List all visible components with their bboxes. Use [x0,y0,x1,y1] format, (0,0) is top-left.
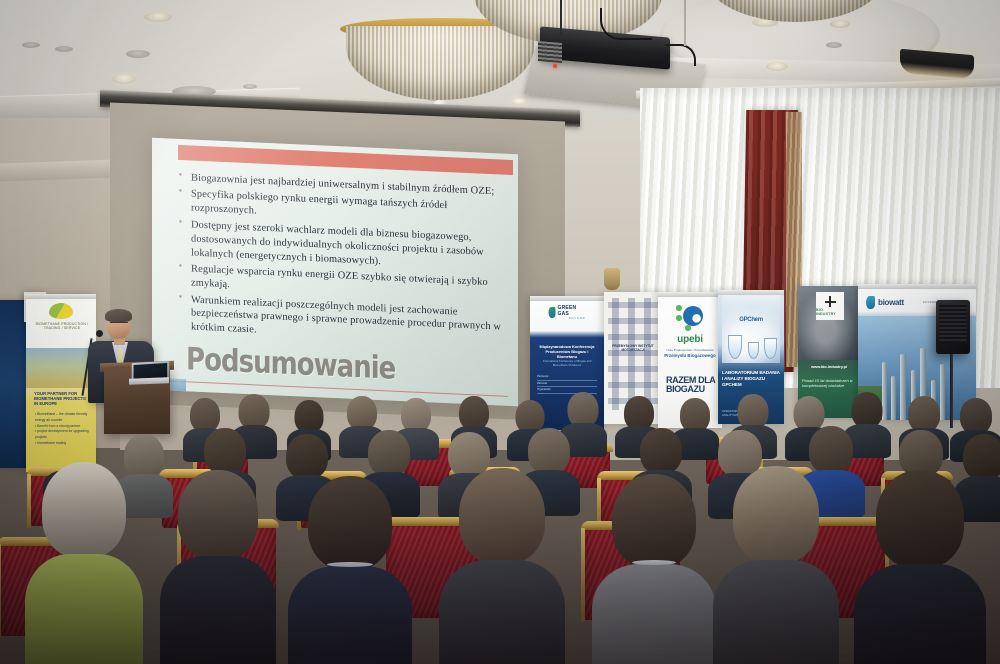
bio-industry-wordmark: BIO INDUSTRY [816,308,844,316]
gpchem-lab-photo: GPChem [722,295,780,363]
landwarme-subtitle: BIOMETHANE PRODUCTION / TRADING / SERVIC… [34,322,90,330]
laptop-screen [134,363,168,379]
conference-photo: Biogazownia jest najbardziej uniwersalny… [0,0,1000,664]
downlight-icon [144,12,172,22]
downlight-icon [22,42,40,48]
head [680,398,710,432]
upebi-subtitle-line2: Przemysłu Biogazowego [663,353,717,359]
banner-cap [530,296,604,301]
slide-bullet-list: Biogazownia jest najbardziej uniwersalny… [178,171,504,352]
head [178,470,258,560]
head [960,398,992,434]
projector-suspension-rod [684,0,686,46]
upebi-slogan: RAZEM DLA BIOGAZU [666,376,718,395]
head [733,466,819,564]
green-gas-wordmark: GREEN GAS [558,305,586,317]
banner-cap [658,292,722,297]
speaker-grille [939,303,967,343]
partner-row: Patronat [537,381,597,388]
head [308,476,392,570]
gpchem-headline: LABORATORIUM BADANIA I ANALIZY BIOGAZU G… [722,370,780,389]
downlight-icon [112,74,136,84]
upebi-dot [676,315,682,321]
head [190,398,220,432]
projector-vent [538,41,562,63]
head [42,462,126,558]
upebi-wordmark: upebi [658,334,722,345]
torso [288,566,412,664]
flask-icon [728,335,742,359]
downlight-icon [126,50,150,58]
head [612,474,696,568]
head [239,394,270,429]
projector-power-led-icon [553,64,557,68]
landwarme-logo-icon [49,303,73,319]
upebi-dot [676,305,682,311]
upebi-circle [683,306,703,326]
flame-icon [549,307,556,318]
head [368,430,410,476]
audience-member-front [36,462,132,664]
poster-logo-pattern [608,298,658,410]
green-gas-headline: Międzynarodowa Konferencja Producentów B… [537,344,597,359]
bio-industry-tagline: Ponad 10 lat doświadczeń w kompleksowej … [802,378,857,388]
torso [439,560,565,664]
torso [25,554,143,664]
bio-industry-url: www.bio-industry.pl [801,364,857,369]
presentation-slide: Biogazownia jest najbardziej uniwersalny… [152,138,518,407]
upebi-subtitle-line1: Unia Producentów i Pracodawców [667,348,714,352]
green-gas-logo: GREEN GAS POLAND [549,305,586,320]
partner-row: Partnerzy [537,374,597,381]
wall-sconce [604,268,620,290]
head [568,392,599,427]
green-gas-country: POLAND [558,317,586,320]
downlight-icon [826,42,842,48]
upebi-subtitle: Unia Producentów i Pracodawców Przemysłu… [663,348,717,360]
microphone-icon [96,330,103,337]
torso [713,560,839,664]
flask-icon [764,338,777,359]
audience-member-front [452,468,552,664]
biowatt-wordmark: biowatt [878,298,904,307]
audience-member-front [300,476,400,664]
audience-member-front [604,474,704,664]
shirt-collar [327,562,373,567]
head [738,394,769,429]
head [908,396,940,432]
audience-member-front [170,470,266,664]
slide-title: Podsumowanie [186,341,395,387]
head [852,392,883,428]
poster-institute-name: PRZEMYSŁOWY INSTYTUT MOTORYZACJI [607,344,659,352]
gpchem-wordmark: GPChem [722,317,780,323]
torso [592,564,716,664]
glasses-icon [110,322,128,326]
biowatt-tower [891,376,896,420]
head [640,428,682,474]
green-gas-partner-rows: Partnerzy Patronat Organizator [537,374,597,394]
chandelier-crystals [706,0,885,22]
upebi-dot [685,325,691,331]
bio-industry-logo: BIO INDUSTRY [816,292,844,320]
head [401,398,431,432]
cross-icon [825,296,836,307]
banner-cap [26,294,96,299]
projector-suspension-rod [560,0,562,36]
audience-member-front [726,466,826,664]
head [204,428,246,474]
torso [854,564,986,664]
pa-speaker [936,300,970,354]
head [286,434,328,479]
flame-icon [866,296,875,309]
chandelier-third [700,0,890,26]
head [876,470,964,568]
bio-industry-photo: BIO INDUSTRY [798,286,860,360]
downlight-icon [243,84,257,89]
head [459,396,489,430]
downlight-icon [55,46,73,52]
banner-left-edge [0,300,26,468]
head [624,396,654,430]
downlight-icon [766,62,788,71]
upebi-logo-icon [675,304,705,332]
torso [160,556,276,664]
shirt-collar [632,560,676,565]
presenter-hair [105,309,132,322]
head [347,396,377,430]
audience-member-front [868,470,972,664]
green-gas-headline-en: International Conference of Biogas and B… [537,360,597,367]
projector-cable [600,8,652,40]
head [459,468,545,564]
flask-icon [748,342,759,359]
